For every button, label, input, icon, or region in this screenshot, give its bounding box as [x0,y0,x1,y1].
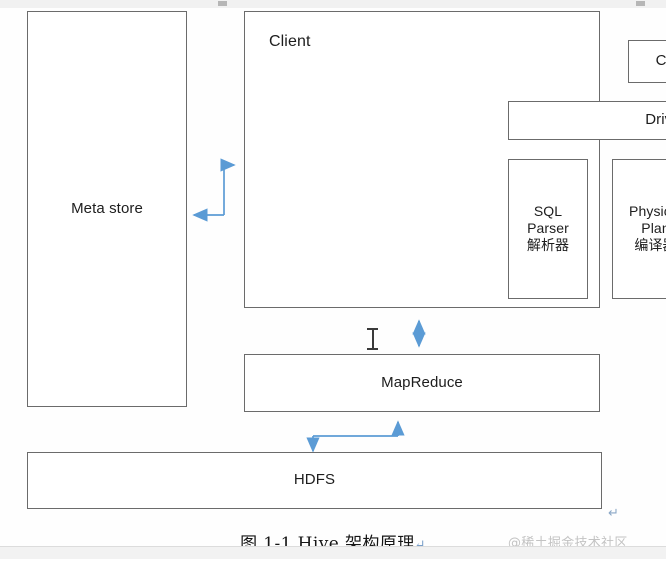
node-mapreduce[interactable]: MapReduce [244,354,600,412]
node-sql-parser-text: SQL Parser 解析器 [527,203,569,254]
document-page-area: Meta store Client CLI JDBC Driver SQL Pa… [0,8,666,546]
node-driver-label: Driver [645,111,666,129]
node-sql-parser[interactable]: SQL Parser 解析器 [508,159,588,299]
ruler-left-indent-marker[interactable] [218,1,227,6]
node-physical-plan-line1: Physical [629,203,666,220]
node-cli[interactable]: CLI [628,40,666,83]
node-meta-store-label: Meta store [71,200,143,218]
node-client-container[interactable]: Client CLI JDBC Driver SQL Parser 解析器 Ph… [244,11,600,308]
node-sql-parser-line3: 解析器 [527,238,569,255]
text-ibeam-cursor [367,328,378,350]
node-physical-plan-text: Physical Plan 编译器 [629,203,666,254]
node-mapreduce-label: MapReduce [381,374,463,392]
node-sql-parser-line2: Parser [527,220,569,237]
node-physical-plan-line2: Plan [629,220,666,237]
paragraph-mark: ↵ [608,506,619,521]
ibeam-stem [372,330,374,348]
node-physical-plan[interactable]: Physical Plan 编译器 [612,159,666,299]
ruler-right-indent-marker[interactable] [636,1,645,6]
node-meta-store[interactable]: Meta store [27,11,187,407]
node-cli-label: CLI [656,52,666,70]
node-sql-parser-line1: SQL [527,203,569,220]
connector-metastore-client [194,165,234,215]
node-physical-plan-line3: 编译器 [629,238,666,255]
document-bottom-strip [0,546,666,559]
ibeam-cap-bottom [367,348,378,350]
node-hdfs[interactable]: HDFS [27,452,602,509]
connector-mapreduce-hdfs [313,422,398,451]
node-client-label: Client [269,32,311,52]
node-hdfs-label: HDFS [294,471,335,489]
node-driver[interactable]: Driver [508,101,666,140]
